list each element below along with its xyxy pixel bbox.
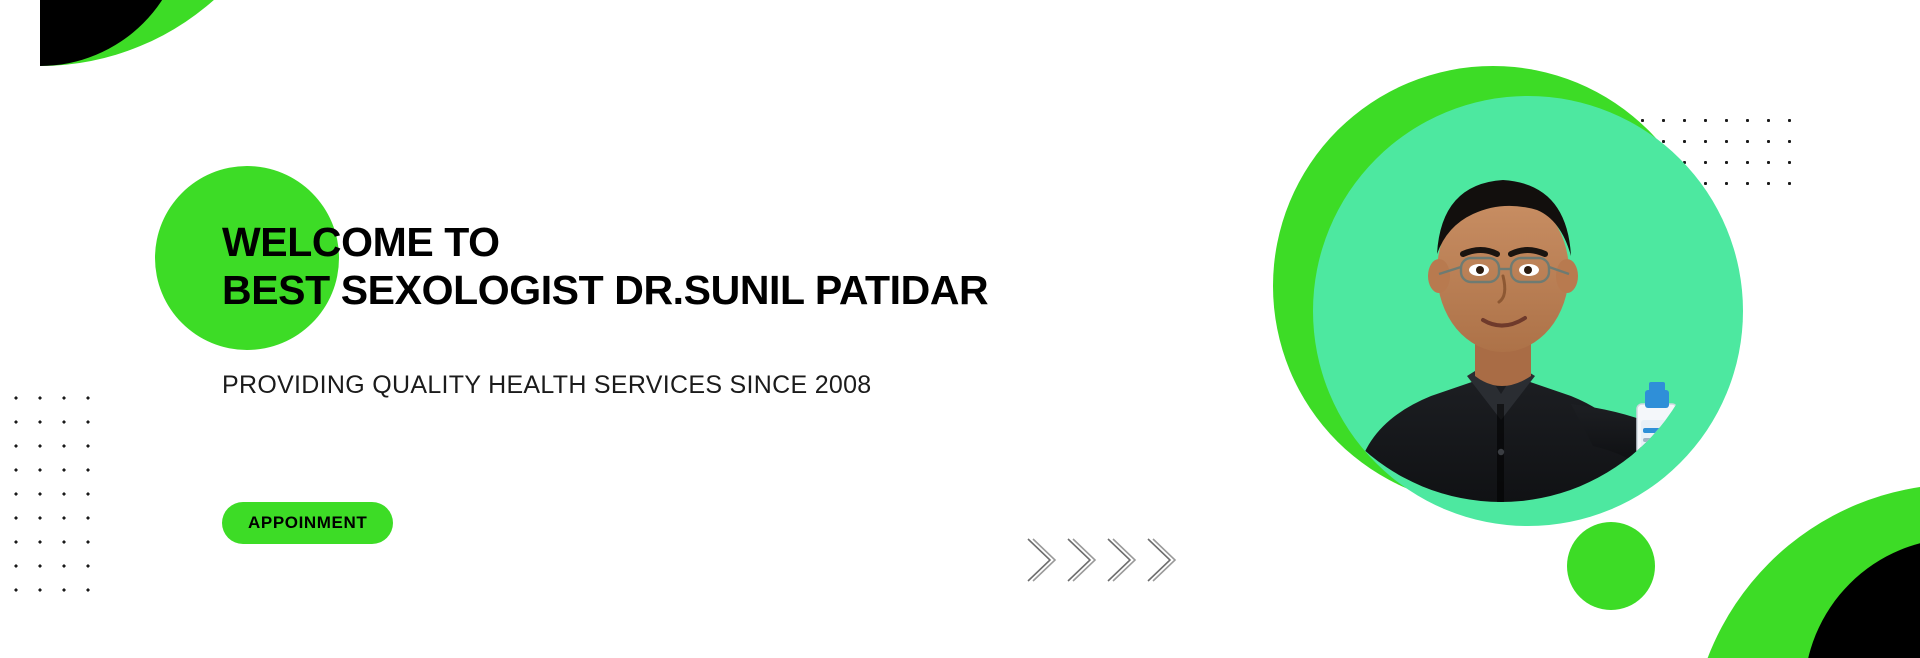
chevron-right-icon xyxy=(1022,535,1058,585)
chevron-right-icon xyxy=(1142,535,1178,585)
hero-banner: WELCOME TO BEST SEXOLOGIST DR.SUNIL PATI… xyxy=(0,0,1920,658)
headline-line-2: BEST SEXOLOGIST DR.SUNIL PATIDAR xyxy=(222,266,1222,314)
chevron-right-icon xyxy=(1062,535,1098,585)
hero-subtitle: PROVIDING QUALITY HEALTH SERVICES SINCE … xyxy=(222,371,1222,400)
headline-line-1: WELCOME TO xyxy=(222,219,500,265)
chevron-arrows-group xyxy=(1022,535,1178,585)
page-title: WELCOME TO BEST SEXOLOGIST DR.SUNIL PATI… xyxy=(222,218,1222,315)
chevron-right-icon xyxy=(1102,535,1138,585)
hero-copy: WELCOME TO BEST SEXOLOGIST DR.SUNIL PATI… xyxy=(222,218,1222,400)
dot-grid-left-icon xyxy=(4,386,100,608)
doctor-portrait-image xyxy=(1305,104,1725,564)
appointment-button[interactable]: APPOINMENT xyxy=(222,502,393,544)
portrait-block xyxy=(1265,66,1785,586)
